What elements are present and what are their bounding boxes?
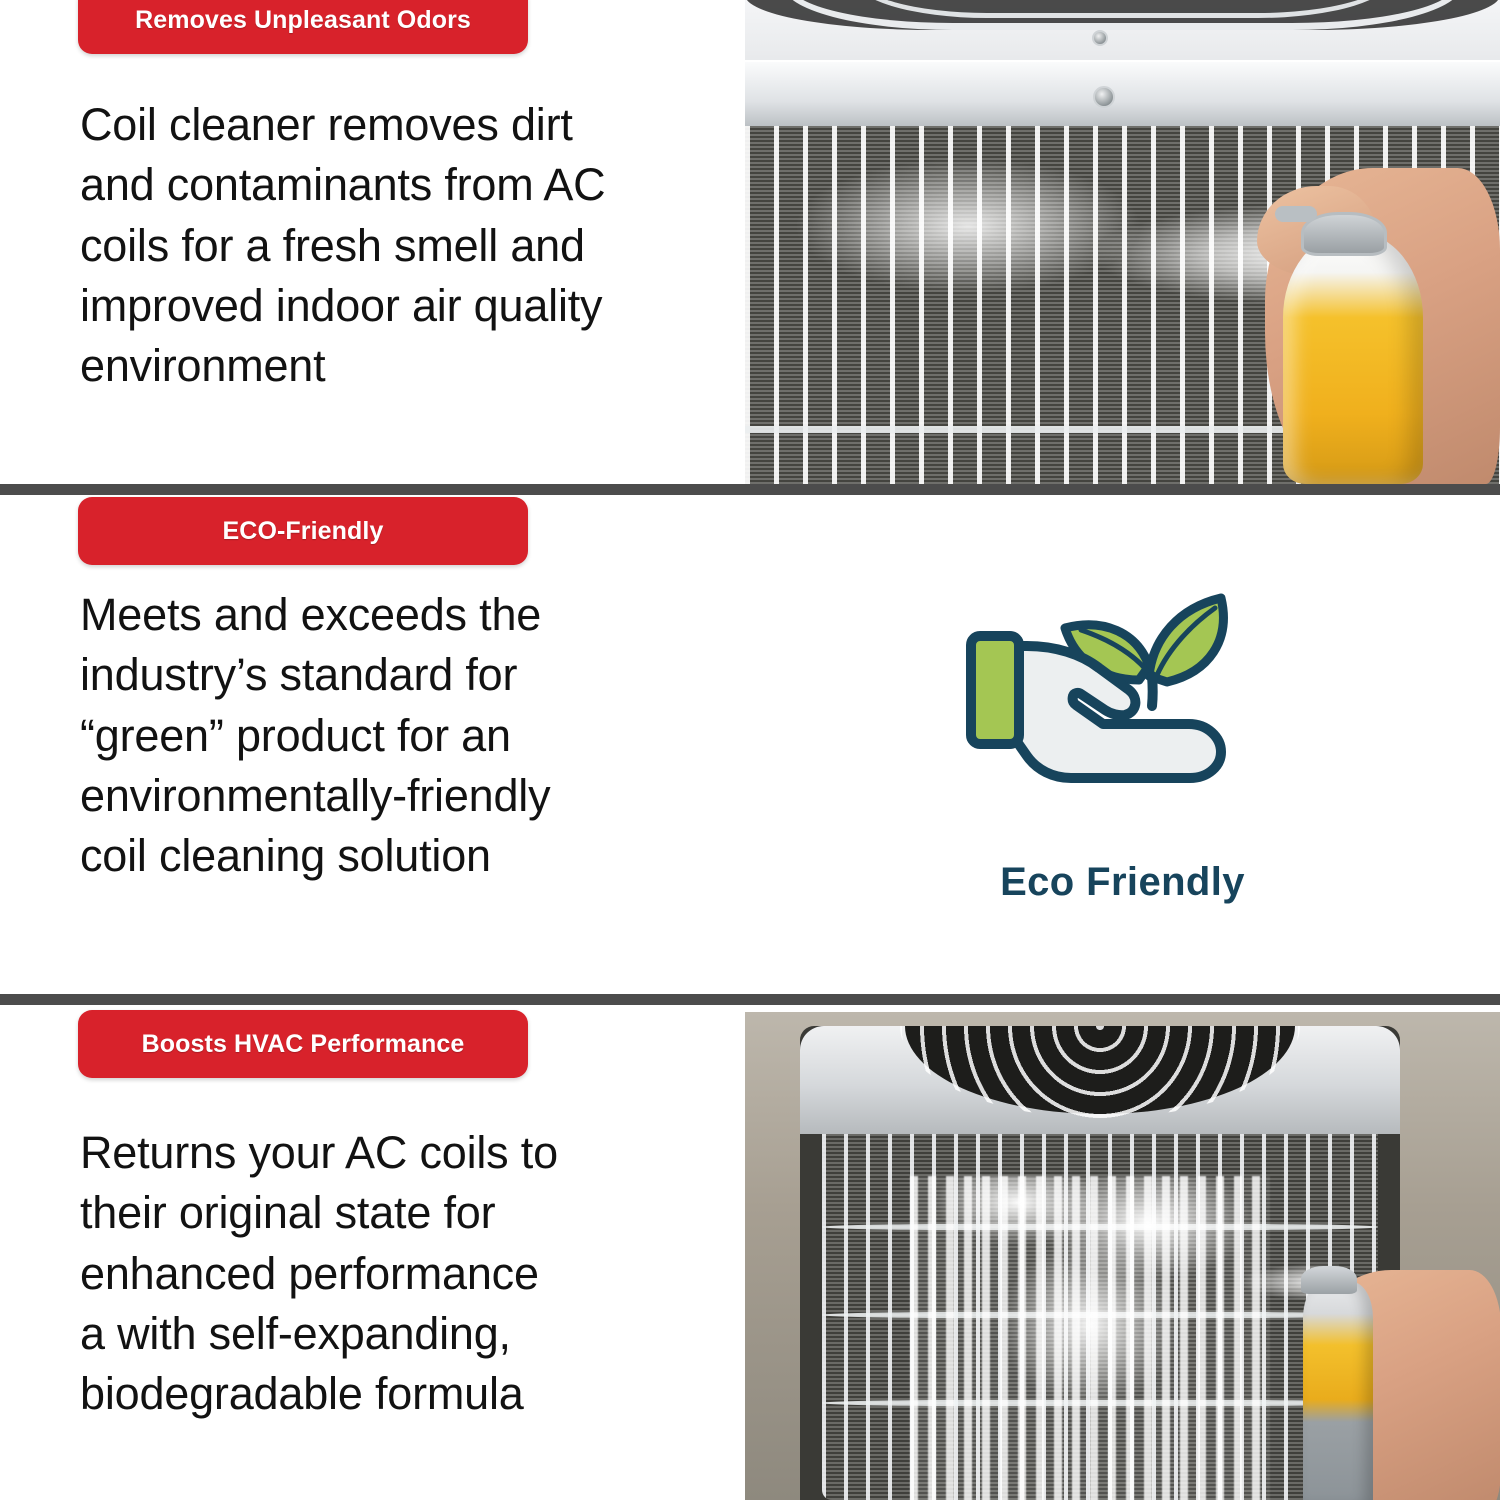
feature-row-performance: Boosts HVAC Performance Returns your AC … [0,1005,1500,1500]
feature-body-eco: Meets and exceeds the industry’s standar… [80,585,720,886]
aerosol-can [1303,1282,1373,1500]
feature-badge-eco: ECO-Friendly [78,497,528,565]
feature-row-eco: ECO-Friendly Meets and exceeds the indus… [0,495,1500,994]
unit-top-cap [745,60,1500,128]
eco-friendly-caption: Eco Friendly [1000,860,1245,905]
photo-ac-coil-spray [745,0,1500,484]
feature-badge-performance: Boosts HVAC Performance [78,1010,528,1078]
can-nozzle-tip [1275,206,1317,222]
product-feature-infographic: Removes Unpleasant Odors Coil cleaner re… [0,0,1500,1500]
feature-body-performance: Returns your AC coils to their original … [80,1123,720,1424]
can-nozzle [1301,1266,1357,1294]
eco-friendly-panel: Eco Friendly [745,495,1500,994]
feature-badge-label: ECO-Friendly [223,519,384,544]
feature-row-odors: Removes Unpleasant Odors Coil cleaner re… [0,0,1500,484]
cap-screw-upper [1092,30,1108,46]
section-divider-2 [0,994,1500,1005]
cap-screw-lower [1093,86,1115,108]
feature-badge-label: Boosts HVAC Performance [142,1032,465,1057]
feature-badge-label: Removes Unpleasant Odors [135,8,471,33]
feature-body-odors: Coil cleaner removes dirt and contaminan… [80,95,720,396]
feature-badge-odors: Removes Unpleasant Odors [78,0,528,54]
aerosol-can [1283,232,1423,484]
photo-ac-unit-foam [745,1012,1500,1500]
expanding-foam [910,1176,1270,1500]
section-divider-1 [0,484,1500,495]
hand-holding-plant-icon [953,584,1293,814]
